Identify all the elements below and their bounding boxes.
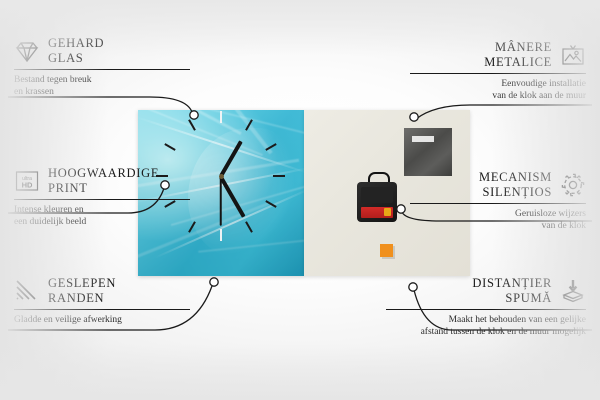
callout-desc-line2: afstand tussen de klok en de muur mogeli… xyxy=(386,326,586,338)
callout-desc-line2: en krassen xyxy=(14,86,190,98)
svg-text:HD: HD xyxy=(22,180,33,189)
callout-title-line2: PRINT xyxy=(48,181,159,196)
quartz-mechanism xyxy=(357,182,397,222)
callout-desc-line2: van de klok aan de muur xyxy=(410,90,586,102)
callout-rule xyxy=(386,309,586,310)
second-hand xyxy=(220,176,222,226)
plate-glint xyxy=(412,136,434,142)
callout-mecanism-silentios[interactable]: MECANISM SILENȚIOS Geruisloze wijzers va… xyxy=(410,170,586,232)
gear-icon xyxy=(560,172,586,198)
callout-manere-metalice[interactable]: MÂNERE METALICE Eenvoudige installatie v… xyxy=(410,40,586,102)
diamond-icon xyxy=(14,38,40,64)
callout-title-line1: GESLEPEN xyxy=(48,276,116,291)
framed-picture-icon xyxy=(560,42,586,68)
callout-desc-line1: Intense kleuren en xyxy=(14,204,190,216)
callout-desc-line1: Gladde en veilige afwerking xyxy=(14,314,190,326)
leader-dot xyxy=(210,278,218,286)
callout-title-line1: MÂNERE xyxy=(484,40,552,55)
callout-gehard-glas[interactable]: GEHARD GLAS Bestand tegen breuk en krass… xyxy=(14,36,190,98)
callout-distantier-spuma[interactable]: DISTANȚIER SPUMĂ Maakt het behouden van … xyxy=(386,276,586,338)
callout-title-line2: METALICE xyxy=(484,55,552,70)
callout-desc-line1: Bestand tegen breuk xyxy=(14,74,190,86)
callout-title-line1: HOOGWAARDIGE xyxy=(48,166,159,181)
battery-marking xyxy=(384,208,391,216)
callout-title-line2: RANDEN xyxy=(48,291,116,306)
callout-hoogwaardige-print[interactable]: ultra HD HOOGWAARDIGE PRINT Intense kleu… xyxy=(14,166,190,228)
infographic-canvas: GEHARD GLAS Bestand tegen breuk en krass… xyxy=(0,0,600,400)
ultra-hd-icon: ultra HD xyxy=(14,168,40,194)
callout-title-line1: DISTANȚIER xyxy=(472,276,552,291)
callout-rule xyxy=(14,309,190,310)
callout-title-line1: GEHARD xyxy=(48,36,104,51)
callout-desc-line1: Maakt het behouden van een gelijke xyxy=(386,314,586,326)
callout-title-line2: SPUMĂ xyxy=(472,291,552,306)
callout-rule xyxy=(14,199,190,200)
hand-cap xyxy=(219,174,224,179)
callout-title-line2: GLAS xyxy=(48,51,104,66)
callout-rule xyxy=(14,69,190,70)
callout-title-line1: MECANISM xyxy=(479,170,552,185)
metal-plate xyxy=(404,128,452,176)
callout-geslepen-randen[interactable]: GESLEPEN RANDEN Gladde en veilige afwerk… xyxy=(14,276,190,326)
bevelled-edges-icon xyxy=(14,278,40,304)
callout-rule xyxy=(410,73,586,74)
callout-desc-line1: Eenvoudige installatie xyxy=(410,78,586,90)
callout-title-line2: SILENȚIOS xyxy=(479,185,552,200)
callout-rule xyxy=(410,203,586,204)
battery xyxy=(361,207,393,218)
callout-desc-line1: Geruisloze wijzers xyxy=(410,208,586,220)
callout-desc-line2: een duidelijk beeld xyxy=(14,216,190,228)
callout-desc-line2: van de klok xyxy=(410,220,586,232)
spacer-press-icon xyxy=(560,278,586,304)
mechanism-housing xyxy=(361,187,393,203)
foam-spacer xyxy=(380,244,393,257)
